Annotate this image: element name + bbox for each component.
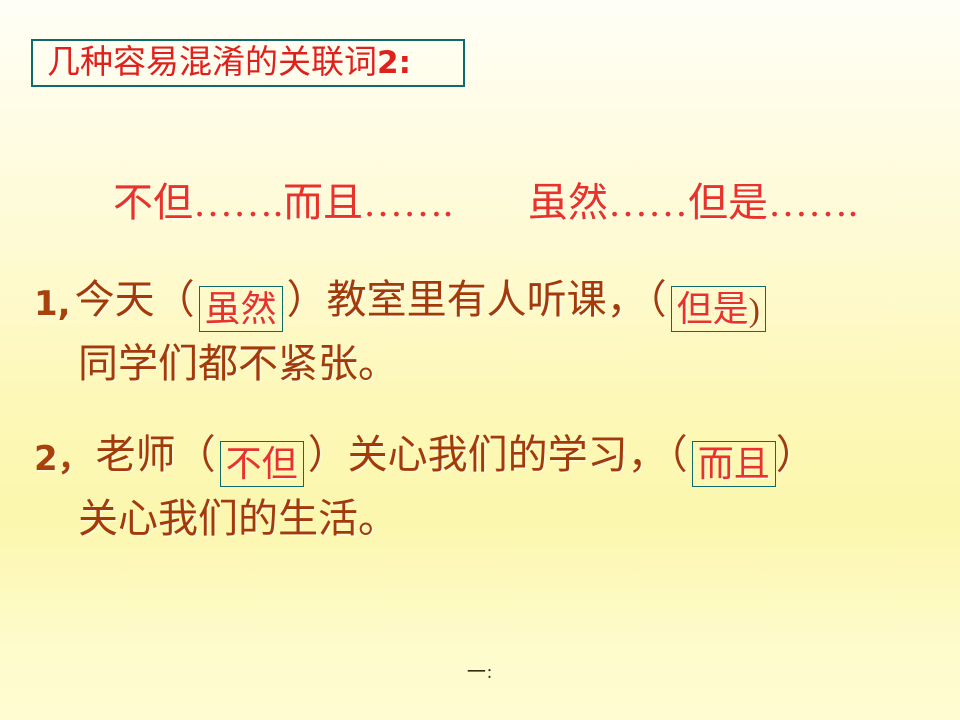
answer-box-1-1[interactable]: 虽然 <box>199 286 283 332</box>
item-1-text-line2: 同学们都不紧张。 <box>78 341 398 386</box>
answer-2-2-text: 而且 <box>698 442 770 486</box>
title-box: 几种容易混淆的关联词2: <box>31 39 465 87</box>
pattern-line: 不但…….而且……. 虽然……但是……. <box>0 172 960 234</box>
item-2-close-paren: ） <box>776 432 816 477</box>
exercise-item-1: 1, 今天（ 虽然 ）教室里有人听课，（ 但是) 同学们都不紧张。 <box>0 268 960 396</box>
item-1-text-before: 今天（ <box>75 277 195 322</box>
pattern-suiran-danshi: 虽然……但是……. <box>528 172 858 234</box>
exercise-item-1-line-2: 同学们都不紧张。 <box>0 332 960 396</box>
pattern-buduan-erqie: 不但…….而且……. <box>113 172 453 234</box>
answer-box-1-2[interactable]: 但是) <box>671 286 766 332</box>
exercise-item-1-line-1: 1, 今天（ 虽然 ）教室里有人听课，（ 但是) <box>0 268 960 332</box>
footer-page-marker: 一: <box>0 657 960 684</box>
item-1-text-middle: ）教室里有人听课，（ <box>287 277 667 322</box>
item-2-marker: 2， <box>34 439 92 479</box>
answer-2-1-text: 不但 <box>226 442 298 486</box>
item-1-close-paren: ) <box>749 292 760 329</box>
item-2-text-middle: ）关心我们的学习，（ <box>308 432 688 477</box>
answer-box-2-2[interactable]: 而且 <box>692 441 776 487</box>
page-title-main: 几种容易混淆的关联词 <box>47 45 377 81</box>
exercise-item-2-line-1: 2， 老师（ 不但 ）关心我们的学习，（ 而且 ） <box>0 423 960 487</box>
page-title: 几种容易混淆的关联词2: <box>47 47 411 80</box>
answer-1-1-text: 虽然 <box>205 287 277 331</box>
exercise-item-2: 2， 老师（ 不但 ）关心我们的学习，（ 而且 ） 关心我们的生活。 <box>0 423 960 551</box>
answer-box-2-1[interactable]: 不但 <box>220 441 304 487</box>
answer-1-2-text: 但是 <box>677 287 749 331</box>
item-2-text-before: 老师（ <box>96 432 216 477</box>
item-2-text-line2: 关心我们的生活。 <box>78 496 398 541</box>
slide-canvas: 几种容易混淆的关联词2: 不但…….而且……. 虽然……但是……. 1, 今天（… <box>0 0 960 720</box>
exercise-item-2-line-2: 关心我们的生活。 <box>0 487 960 551</box>
page-title-number: 2: <box>377 45 411 81</box>
item-1-marker: 1, <box>34 284 71 324</box>
